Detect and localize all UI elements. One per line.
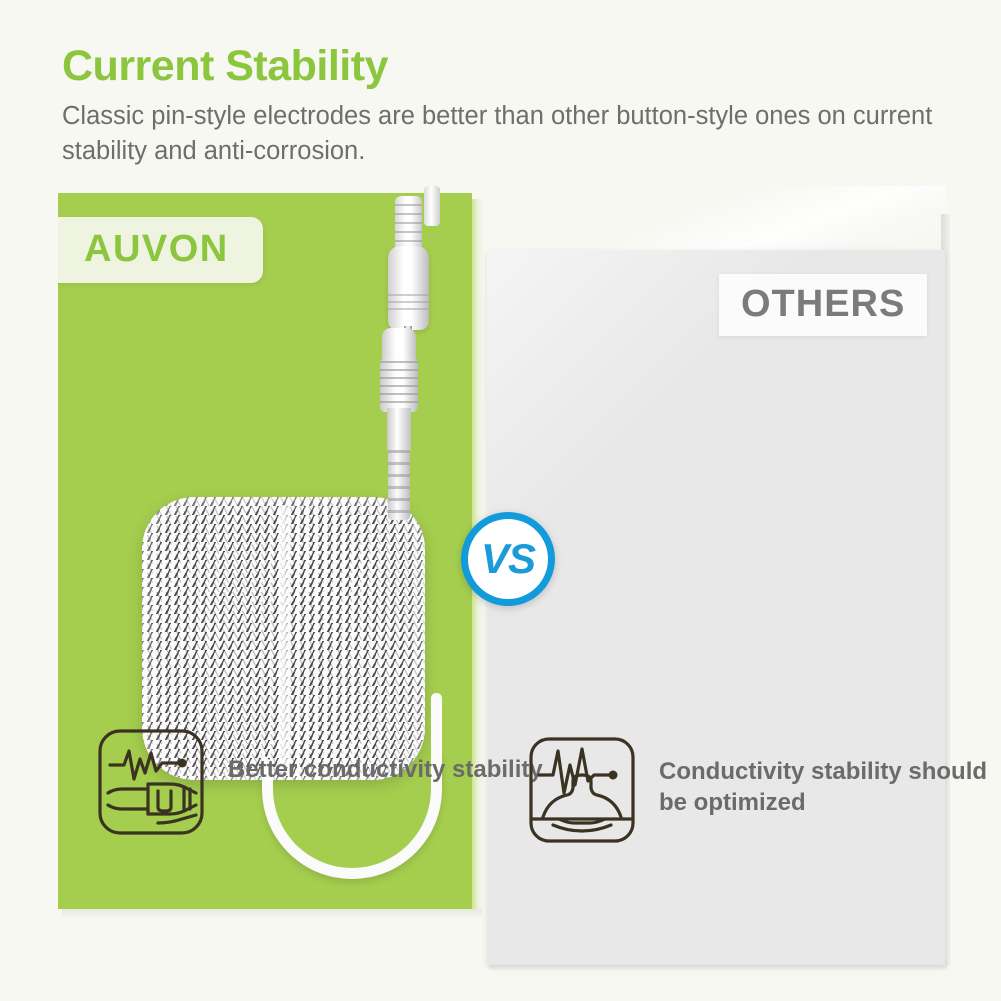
header: Current Stability Classic pin-style elec…	[62, 44, 962, 170]
pin-plug-female	[378, 328, 420, 518]
ecg-pin-connector-icon	[96, 727, 206, 837]
ecg-snap-button-icon	[527, 735, 637, 845]
page-title: Current Stability	[62, 44, 962, 89]
auvon-feature-row: Better conductivity stability	[96, 727, 543, 837]
infographic-canvas: Current Stability Classic pin-style elec…	[0, 0, 1001, 1001]
auvon-badge: AUVON	[58, 217, 263, 283]
plug-grip	[395, 196, 422, 252]
auvon-feature-caption: Better conductivity stability	[228, 727, 543, 786]
auvon-badge-label: AUVON	[84, 228, 229, 270]
others-badge: OTHERS	[719, 274, 927, 336]
vs-label: VS	[481, 535, 535, 583]
plug-strain-relief	[388, 450, 410, 520]
plug-ribbed-grip	[380, 358, 418, 412]
plug-neck	[387, 408, 411, 456]
plug-barrel	[388, 246, 429, 330]
others-feature-row: Conductivity stability should be optimiz…	[527, 735, 1001, 845]
others-badge-label: OTHERS	[741, 283, 905, 325]
others-feature-caption: Conductivity stability should be optimiz…	[659, 735, 1001, 818]
others-panel: OTHERS	[487, 250, 945, 965]
plug-cap	[382, 328, 416, 362]
page-subtitle: Classic pin-style electrodes are better …	[62, 99, 942, 169]
vs-badge: VS	[461, 512, 555, 606]
